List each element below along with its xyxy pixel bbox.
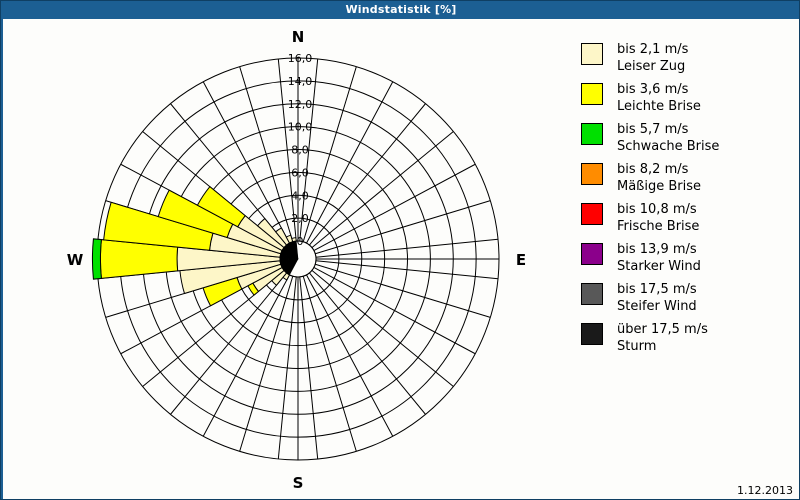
wind-rose-svg: 02,04,06,08,010,012,014,016,0 N E S W [3, 19, 573, 499]
legend-item-speed: bis 5,7 m/s [617, 122, 688, 137]
legend-color-swatch [581, 203, 603, 225]
legend-item[interactable]: bis 13,9 m/sStarker Wind [581, 241, 793, 275]
legend: bis 2,1 m/sLeiser Zugbis 3,6 m/sLeichte … [581, 41, 793, 361]
radial-tick-label: 14,0 [288, 75, 313, 88]
radial-tick-label: 8,0 [291, 144, 309, 157]
legend-item-text: bis 17,5 m/sSteifer Wind [617, 281, 697, 315]
grid-spoke [306, 82, 392, 243]
grid-spoke [303, 276, 356, 451]
legend-item[interactable]: bis 17,5 m/sSteifer Wind [581, 281, 793, 315]
legend-color-swatch [581, 323, 603, 345]
grid-spoke [314, 267, 475, 353]
legend-item-text: bis 5,7 m/sSchwache Brise [617, 121, 719, 155]
grid-spoke [306, 275, 392, 436]
grid-spoke [315, 264, 490, 317]
legend-item-speed: bis 13,9 m/s [617, 242, 697, 257]
legend-color-swatch [581, 123, 603, 145]
legend-item-speed: bis 2,1 m/s [617, 42, 688, 57]
grid-spoke [309, 104, 425, 245]
compass-label-south: S [293, 474, 304, 492]
legend-item-speed: bis 3,6 m/s [617, 82, 688, 97]
radial-tick-label: 12,0 [288, 98, 313, 111]
legend-item-text: bis 13,9 m/sStarker Wind [617, 241, 701, 275]
legend-item-text: über 17,5 m/sSturm [617, 321, 708, 355]
legend-item-speed: bis 10,8 m/s [617, 202, 697, 217]
legend-item-name: Sturm [617, 338, 708, 355]
compass-label-east: E [516, 251, 526, 269]
wind-rose-petal [92, 239, 101, 279]
legend-item-text: bis 2,1 m/sLeiser Zug [617, 41, 688, 75]
legend-item-text: bis 3,6 m/sLeichte Brise [617, 81, 701, 115]
radial-tick-label: 16,0 [288, 52, 313, 65]
legend-item-name: Starker Wind [617, 258, 701, 275]
grid-spoke [312, 131, 453, 247]
radial-tick-labels: 02,04,06,08,010,012,014,016,0 [288, 52, 313, 248]
legend-item-speed: bis 17,5 m/s [617, 282, 697, 297]
legend-item[interactable]: über 17,5 m/sSturm [581, 321, 793, 355]
grid-spoke [309, 273, 425, 414]
legend-item-name: Schwache Brise [617, 138, 719, 155]
radial-tick-label: 0 [297, 235, 304, 248]
window-titlebar: Windstatistik [%] [1, 1, 800, 18]
legend-color-swatch [581, 43, 603, 65]
compass-label-west: W [67, 251, 84, 269]
wind-rose-plot: 02,04,06,08,010,012,014,016,0 N E S W [3, 19, 573, 499]
legend-item-name: Mäßige Brise [617, 178, 701, 195]
legend-item-text: bis 10,8 m/sFrische Brise [617, 201, 699, 235]
legend-item[interactable]: bis 2,1 m/sLeiser Zug [581, 41, 793, 75]
grid-spoke [303, 67, 356, 242]
radial-tick-label: 4,0 [291, 189, 309, 202]
grid-spoke [240, 276, 293, 451]
legend-item[interactable]: bis 3,6 m/sLeichte Brise [581, 81, 793, 115]
radial-tick-label: 6,0 [291, 166, 309, 179]
radial-tick-label: 2,0 [291, 212, 309, 225]
date-stamp: 1.12.2013 [737, 484, 793, 497]
legend-item-speed: über 17,5 m/s [617, 322, 708, 337]
legend-item-name: Leichte Brise [617, 98, 701, 115]
legend-item-name: Frische Brise [617, 218, 699, 235]
legend-color-swatch [581, 283, 603, 305]
legend-item[interactable]: bis 8,2 m/sMäßige Brise [581, 161, 793, 195]
legend-color-swatch [581, 83, 603, 105]
legend-color-swatch [581, 163, 603, 185]
grid-spoke [314, 164, 475, 250]
grid-spoke [312, 270, 453, 386]
legend-item-speed: bis 8,2 m/s [617, 162, 688, 177]
legend-item[interactable]: bis 5,7 m/sSchwache Brise [581, 121, 793, 155]
compass-label-north: N [292, 28, 305, 46]
window-title: Windstatistik [%] [345, 3, 456, 16]
legend-item-name: Steifer Wind [617, 298, 697, 315]
legend-item-text: bis 8,2 m/sMäßige Brise [617, 161, 701, 195]
grid-spoke [240, 67, 293, 242]
legend-item-name: Leiser Zug [617, 58, 688, 75]
chart-canvas: 02,04,06,08,010,012,014,016,0 N E S W bi… [3, 19, 799, 499]
grid-spoke [315, 201, 490, 254]
windstatistik-window: Windstatistik [%] 02,04,06,08,010,012,01… [0, 0, 800, 500]
legend-item[interactable]: bis 10,8 m/sFrische Brise [581, 201, 793, 235]
radial-tick-label: 10,0 [288, 121, 313, 134]
legend-color-swatch [581, 243, 603, 265]
